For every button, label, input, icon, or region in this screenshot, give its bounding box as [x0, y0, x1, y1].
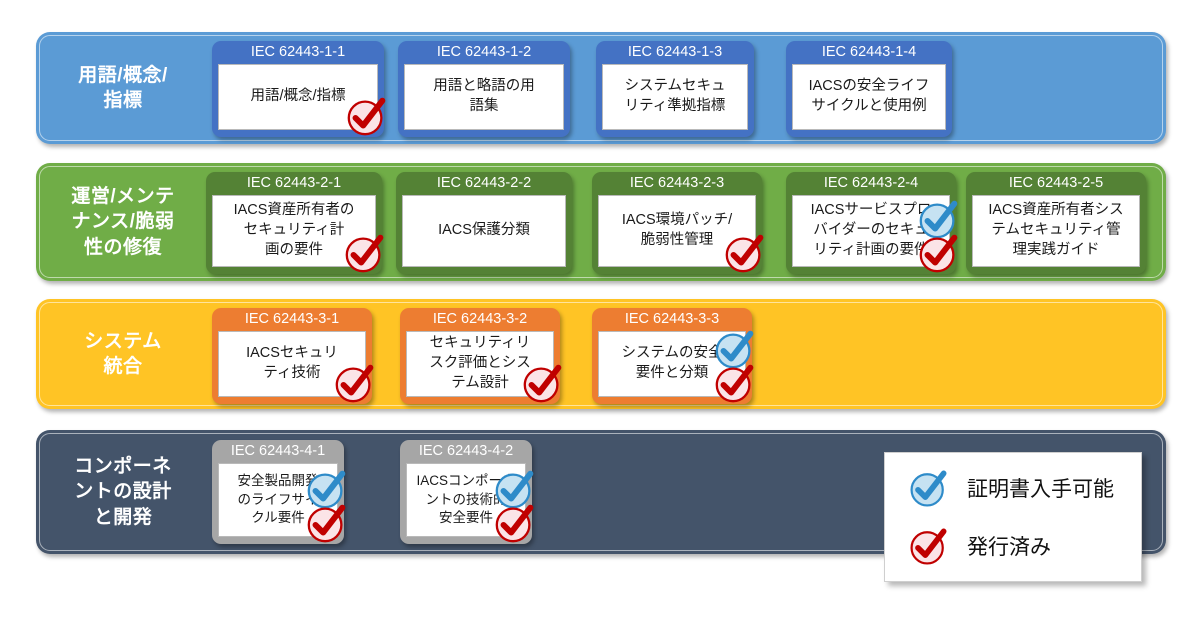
- standard-card-code: IEC 62443-3-1: [218, 311, 366, 331]
- standard-card-code: IEC 62443-1-4: [792, 44, 946, 64]
- standard-card-text: セキュリティリ スク評価とシス テム設計: [406, 331, 554, 397]
- standard-card-text: 用語/概念/指標: [218, 64, 378, 130]
- band-label: 用語/概念/ 指標: [48, 32, 198, 144]
- standard-card-code: IEC 62443-2-4: [792, 175, 950, 195]
- standard-card-text: IACS資産所有者の セキュリティ計 画の要件: [212, 195, 376, 267]
- standard-card[interactable]: IEC 62443-3-3システムの安全 要件と分類: [592, 308, 752, 404]
- standard-card[interactable]: IEC 62443-1-2用語と略語の用 語集: [398, 41, 570, 137]
- standard-card-text: システムの安全 要件と分類: [598, 331, 746, 397]
- standard-card-text: IACSセキュリ ティ技術: [218, 331, 366, 397]
- standard-card-code: IEC 62443-3-3: [598, 311, 746, 331]
- standard-card-code: IEC 62443-1-2: [404, 44, 564, 64]
- check-circle-red-icon: [907, 524, 951, 568]
- standard-card-code: IEC 62443-4-1: [218, 443, 338, 463]
- standard-card[interactable]: IEC 62443-1-4IACSの安全ライフ サイクルと使用例: [786, 41, 952, 137]
- band-label: 運営/メンテ ナンス/脆弱 性の修復: [48, 163, 198, 281]
- standard-card-text: IACS資産所有者シス テムセキュリティ管 理実践ガイド: [972, 195, 1140, 267]
- band-label: コンポーネ ントの設計 と開発: [48, 430, 198, 554]
- standard-card[interactable]: IEC 62443-2-1IACS資産所有者の セキュリティ計 画の要件: [206, 172, 382, 274]
- standard-card-text: IACSコンポーネ ントの技術的 安全要件: [406, 463, 526, 537]
- standard-card-text: IACSサービスプロ バイダーのセキュ リティ計画の要件: [792, 195, 950, 267]
- standard-card-text: 安全製品開発 のライフサイ クル要件: [218, 463, 338, 537]
- standard-card[interactable]: IEC 62443-2-2IACS保護分類: [396, 172, 572, 274]
- standard-card[interactable]: IEC 62443-1-1用語/概念/指標: [212, 41, 384, 137]
- legend-item: 証明書入手可能: [907, 466, 1119, 510]
- check-circle-blue-icon: [907, 466, 951, 510]
- standard-card-text: IACSの安全ライフ サイクルと使用例: [792, 64, 946, 130]
- standard-card-text: IACS保護分類: [402, 195, 566, 267]
- standard-card-code: IEC 62443-3-2: [406, 311, 554, 331]
- standard-card[interactable]: IEC 62443-2-4IACSサービスプロ バイダーのセキュ リティ計画の要…: [786, 172, 956, 274]
- standard-card[interactable]: IEC 62443-2-5IACS資産所有者シス テムセキュリティ管 理実践ガイ…: [966, 172, 1146, 274]
- standard-card-code: IEC 62443-2-5: [972, 175, 1140, 195]
- standard-card[interactable]: IEC 62443-3-2セキュリティリ スク評価とシス テム設計: [400, 308, 560, 404]
- standard-card[interactable]: IEC 62443-4-2IACSコンポーネ ントの技術的 安全要件: [400, 440, 532, 544]
- legend-item: 発行済み: [907, 524, 1119, 568]
- standard-card-text: IACS環境パッチ/ 脆弱性管理: [598, 195, 756, 267]
- standard-card-text: システムセキュ リティ準拠指標: [602, 64, 748, 130]
- standard-card-code: IEC 62443-2-2: [402, 175, 566, 195]
- legend-item-label: 発行済み: [967, 531, 1051, 561]
- band-label: システム 統合: [48, 299, 198, 409]
- standard-card-code: IEC 62443-1-1: [218, 44, 378, 64]
- standard-card[interactable]: IEC 62443-3-1IACSセキュリ ティ技術: [212, 308, 372, 404]
- standard-card-code: IEC 62443-2-1: [212, 175, 376, 195]
- legend-item-label: 証明書入手可能: [967, 473, 1114, 503]
- standard-card[interactable]: IEC 62443-4-1安全製品開発 のライフサイ クル要件: [212, 440, 344, 544]
- standard-card-code: IEC 62443-4-2: [406, 443, 526, 463]
- standard-card[interactable]: IEC 62443-2-3IACS環境パッチ/ 脆弱性管理: [592, 172, 762, 274]
- standard-card-code: IEC 62443-1-3: [602, 44, 748, 64]
- legend-box: 証明書入手可能 発行済み: [884, 452, 1142, 582]
- standard-card-text: 用語と略語の用 語集: [404, 64, 564, 130]
- standard-card[interactable]: IEC 62443-1-3システムセキュ リティ準拠指標: [596, 41, 754, 137]
- standard-card-code: IEC 62443-2-3: [598, 175, 756, 195]
